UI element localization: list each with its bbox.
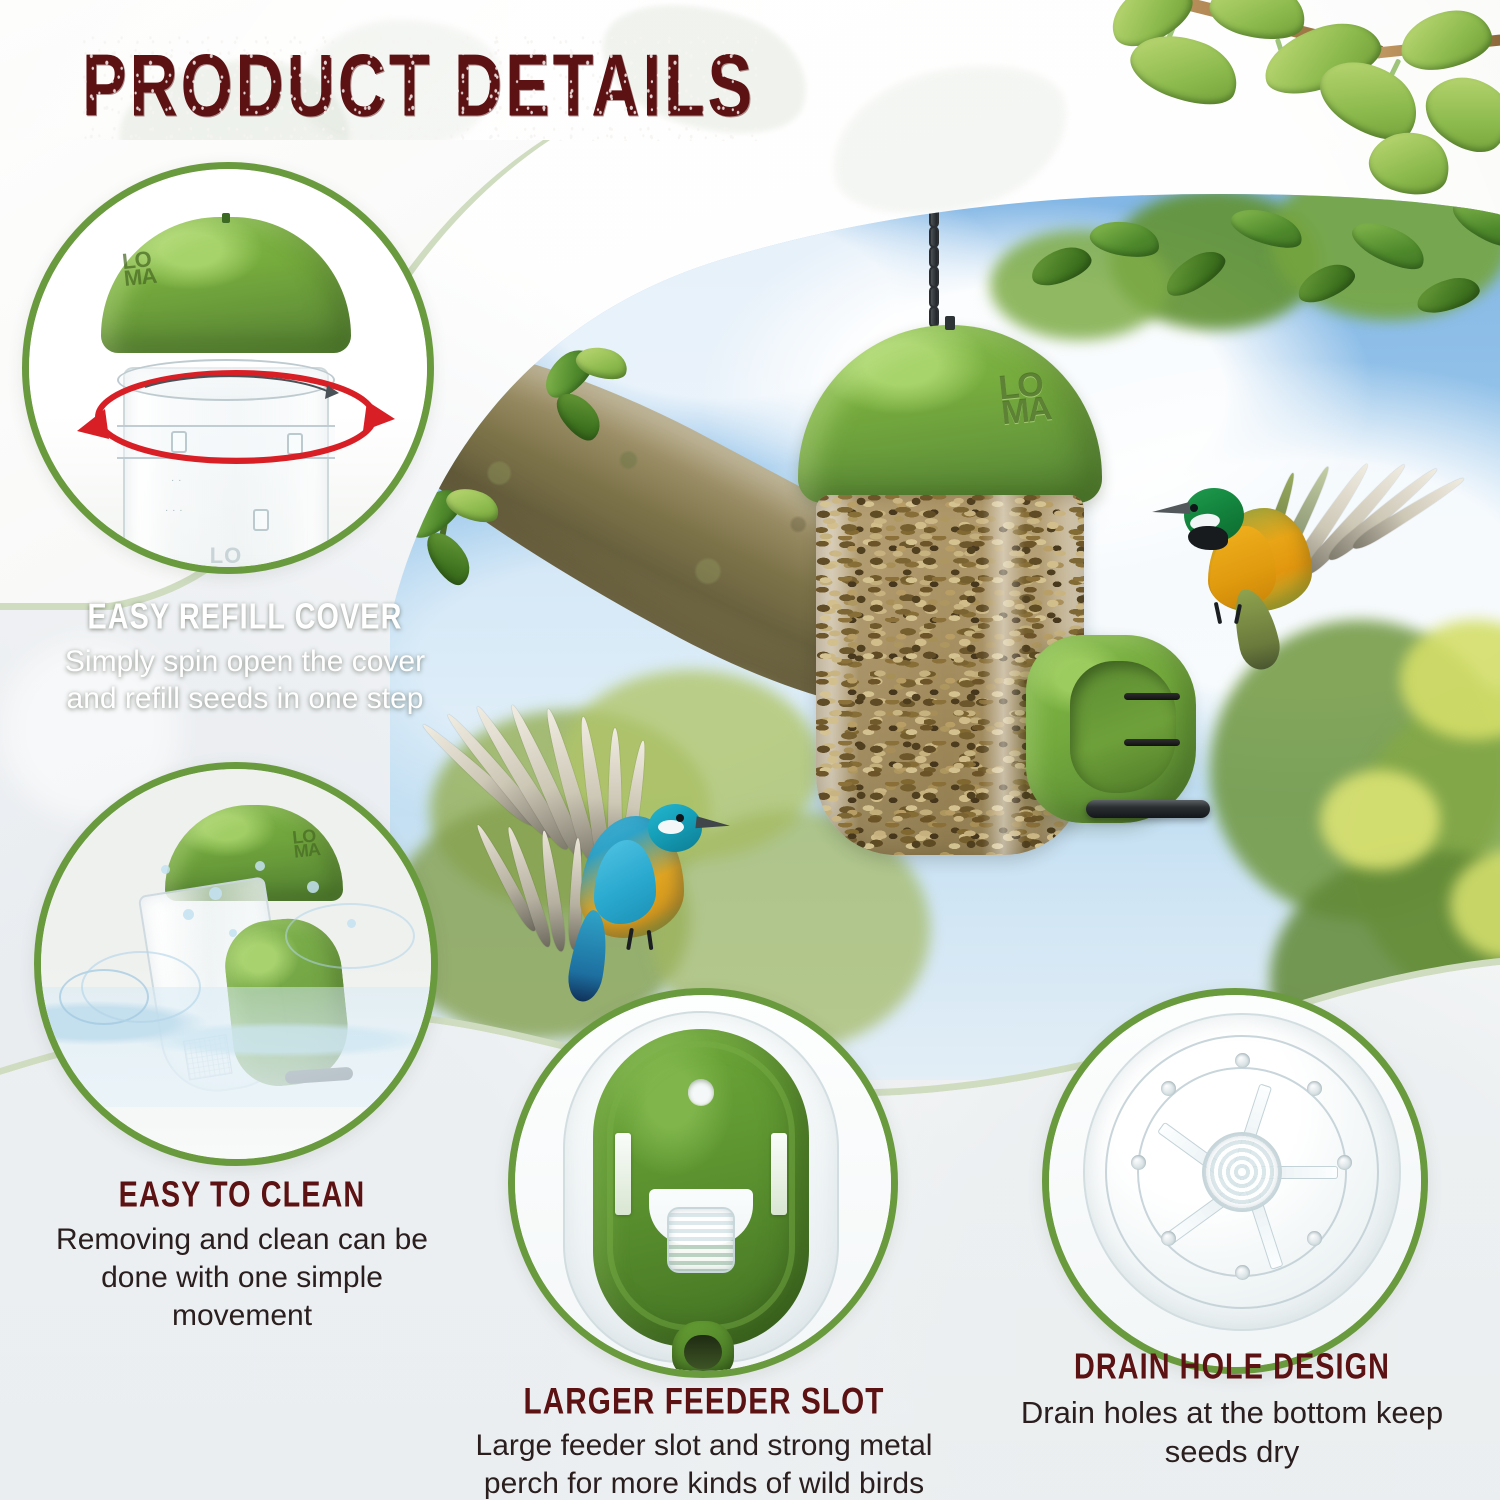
feature-body-line: Drain holes at the bottom keep <box>982 1393 1482 1432</box>
drain-hole <box>1235 1265 1250 1280</box>
jar-brand-text: LO <box>210 543 243 567</box>
retention-rib <box>771 1133 787 1215</box>
feature-body-line: perch for more kinds of wild birds <box>424 1465 984 1500</box>
feature-body-line: Simply spin open the cover <box>30 643 460 680</box>
bird-feeder-product: LOMA <box>770 325 1190 885</box>
caption-easy-to-clean: EASY TO CLEAN Removing and clean can be … <box>22 1176 462 1335</box>
tube-highlight <box>982 495 1025 855</box>
bird-in-flight-left <box>432 688 762 988</box>
perch-socket <box>684 1335 722 1369</box>
feature-body-line: Removing and clean can be <box>22 1221 462 1259</box>
threaded-center <box>667 1207 735 1273</box>
brand-emboss-logo: LOMA <box>292 827 329 858</box>
water-droplet <box>209 887 222 900</box>
caption-drain-hole-design: DRAIN HOLE DESIGN Drain holes at the bot… <box>982 1348 1482 1471</box>
feature-body: Large feeder slot and strong metal perch… <box>424 1427 984 1500</box>
drain-hole <box>1161 1231 1176 1246</box>
drain-hole <box>1131 1155 1146 1170</box>
detail-clear-base <box>1083 1013 1401 1331</box>
water-splash <box>81 951 201 1023</box>
water-droplet <box>255 861 265 871</box>
bird-eye <box>676 814 684 822</box>
feature-body: Simply spin open the cover and refill se… <box>30 643 460 717</box>
page-title: PRODUCT DETAILS <box>82 36 755 136</box>
caption-easy-refill-cover: EASY REFILL COVER Simply spin open the c… <box>30 598 460 717</box>
drain-hole <box>1307 1081 1322 1096</box>
infographic-canvas: PRODUCT DETAILS <box>0 0 1500 1500</box>
brand-emboss-logo: LOMA <box>997 370 1068 429</box>
feature-heading: LARGER FEEDER SLOT <box>452 1380 956 1423</box>
feature-circle-larger-feeder-slot <box>508 988 898 1378</box>
bird-eye <box>1190 504 1198 512</box>
feature-body-line: and refill seeds in one step <box>30 680 460 717</box>
feature-heading: DRAIN HOLE DESIGN <box>1007 1346 1457 1387</box>
water-droplet <box>183 909 194 920</box>
water-droplet <box>307 881 319 893</box>
metal-perch <box>1086 800 1210 818</box>
drain-hole <box>1337 1155 1352 1170</box>
water-droplet <box>161 865 170 874</box>
caption-larger-feeder-slot: LARGER FEEDER SLOT Large feeder slot and… <box>424 1382 984 1500</box>
feature-body-line: done with one simple <box>22 1259 462 1297</box>
threaded-hub <box>1202 1132 1282 1212</box>
brand-emboss-logo: LOMA <box>121 249 164 287</box>
feature-body: Removing and clean can be done with one … <box>22 1221 462 1335</box>
feature-circle-easy-to-clean: LOMA <box>34 762 438 1166</box>
feature-body: Drain holes at the bottom keep seeds dry <box>982 1393 1482 1471</box>
feature-circle-easy-refill-cover: LOMA · · · · · LO <box>22 162 434 574</box>
retention-rib <box>615 1133 631 1215</box>
bird-throat-patch <box>1188 526 1228 550</box>
feature-heading: EASY REFILL COVER <box>52 596 439 637</box>
bird-in-flight-right <box>1150 442 1450 672</box>
feature-body-line: Large feeder slot and strong metal <box>424 1427 984 1465</box>
decor-branch-icon <box>1070 0 1500 222</box>
port-slot <box>1124 693 1180 700</box>
feature-body-line: seeds dry <box>982 1432 1482 1471</box>
water-droplet <box>229 929 237 937</box>
perch-spout <box>672 1321 734 1371</box>
detail-green-slot-body <box>593 1029 809 1347</box>
jar-print-text: · · · <box>165 505 183 516</box>
bird-foot <box>1214 602 1222 624</box>
feature-body-line: movement <box>22 1297 462 1335</box>
drain-hole <box>1161 1081 1176 1096</box>
vent-hole <box>688 1079 714 1105</box>
port-slot <box>1124 739 1180 746</box>
hang-hook-icon <box>945 316 955 330</box>
blossom-cluster <box>1320 770 1440 870</box>
feature-heading: EASY TO CLEAN <box>44 1174 440 1215</box>
jar-tab <box>253 509 269 531</box>
water-splash <box>285 903 415 969</box>
spin-arrow-icon <box>75 357 397 477</box>
cap-nub-icon <box>222 213 230 223</box>
water-droplet <box>347 919 356 928</box>
feeder-port-cavity <box>1070 661 1176 793</box>
feeder-dome-cap: LOMA <box>798 325 1102 503</box>
drain-hole <box>1235 1053 1250 1068</box>
bird-cheek-patch <box>658 820 684 834</box>
drain-hole <box>1307 1231 1322 1246</box>
feature-circle-drain-hole-design <box>1042 988 1428 1374</box>
